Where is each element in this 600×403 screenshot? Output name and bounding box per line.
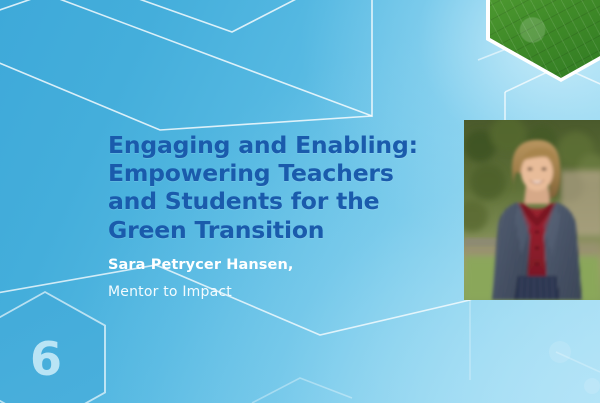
title-line-4: Green Transition <box>108 216 468 244</box>
hexagon-badge-icon: 6 <box>0 291 106 403</box>
speaker-role: Mentor to Impact <box>108 284 468 300</box>
slide-content: Engaging and Enabling: Empowering Teache… <box>108 131 468 300</box>
title-line-2: Empowering Teachers <box>108 159 468 187</box>
leaf-hexagon-icon <box>486 0 600 82</box>
title-line-1: Engaging and Enabling: <box>108 131 468 159</box>
page-title: Engaging and Enabling: Empowering Teache… <box>108 131 468 244</box>
speaker-name: Sara Petrycer Hansen, <box>108 257 468 273</box>
title-line-3: and Students for the <box>108 187 468 215</box>
leaf-hexagon-texture <box>490 0 600 78</box>
speaker-portrait-photo <box>464 120 600 300</box>
presentation-slide: Engaging and Enabling: Empowering Teache… <box>0 0 600 403</box>
slide-number: 6 <box>0 291 106 403</box>
portrait-image <box>464 120 600 300</box>
